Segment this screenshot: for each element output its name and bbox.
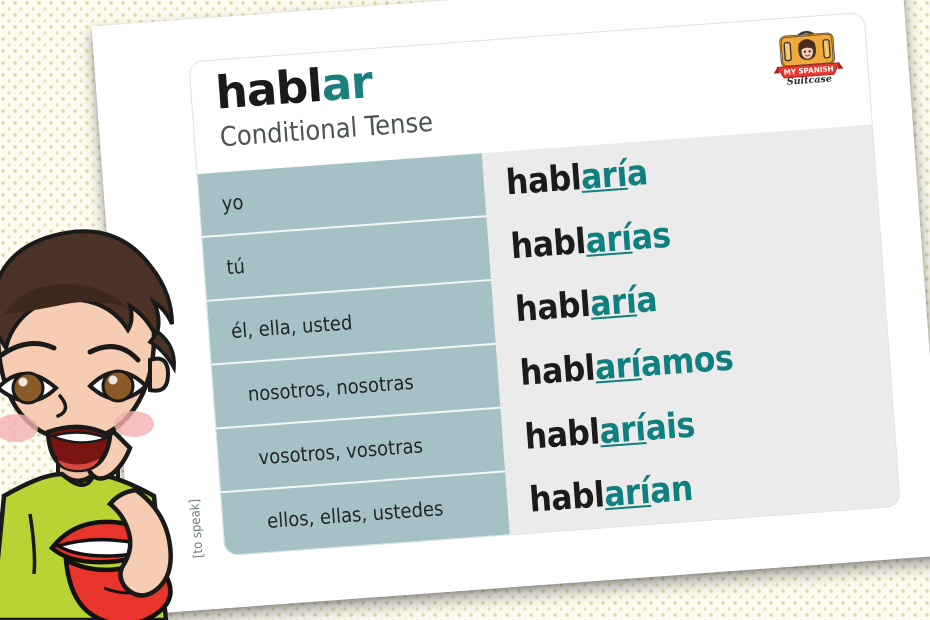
form-ending-underlined: arí — [598, 409, 647, 452]
worksheet-card: hablar Conditional Tense — [91, 0, 930, 615]
form-stem: habl — [519, 348, 597, 393]
form-stem: habl — [505, 158, 583, 203]
card-paper: hablar Conditional Tense — [91, 0, 930, 615]
verb-ending: ar — [320, 55, 374, 112]
logo-banner-text-line2: Suitcase — [786, 73, 832, 87]
form-ending-underlined: arí — [593, 345, 642, 388]
conjugation-panel: hablar Conditional Tense — [188, 12, 901, 556]
verb-title: hablar — [214, 55, 374, 119]
form-ending-rest: a — [635, 280, 659, 321]
form-ending-underlined: arí — [589, 282, 638, 325]
form-ending-rest: amos — [639, 338, 734, 385]
conjugated-form-column: hablaría hablarías hablaría hablaríamos … — [482, 125, 900, 535]
logo-icon: MY SPANISH Suitcase — [768, 21, 846, 88]
pronoun-label: nosotros, nosotras — [247, 370, 415, 406]
form-ending-rest: a — [625, 153, 649, 194]
form-ending-rest: an — [649, 469, 694, 512]
pronoun-label: ellos, ellas, ustedes — [266, 496, 444, 533]
form-ending-underlined: arí — [584, 218, 633, 261]
form-stem: habl — [523, 412, 601, 457]
pronoun-label: yo — [221, 190, 244, 216]
form-stem: habl — [514, 285, 592, 330]
form-ending-underlined: arí — [603, 472, 652, 515]
conjugation-table: yo tú él, ella, usted nosotros, nosotras… — [198, 125, 900, 555]
form-stem: habl — [509, 221, 587, 266]
pronoun-label: vosotros, vosotras — [258, 433, 424, 469]
pronoun-column: yo tú él, ella, usted nosotros, nosotras… — [198, 153, 510, 555]
form-ending-underlined: arí — [579, 155, 628, 198]
form-stem: habl — [528, 475, 606, 520]
form-ending-rest: ais — [644, 405, 696, 449]
pronoun-label: tú — [226, 254, 246, 279]
form-ending-rest: as — [630, 215, 672, 258]
verb-stem: habl — [214, 59, 324, 120]
my-spanish-suitcase-logo: MY SPANISH Suitcase — [768, 21, 846, 88]
pronoun-label: él, ella, usted — [230, 310, 353, 343]
translation-note: [to speak] — [187, 498, 206, 558]
